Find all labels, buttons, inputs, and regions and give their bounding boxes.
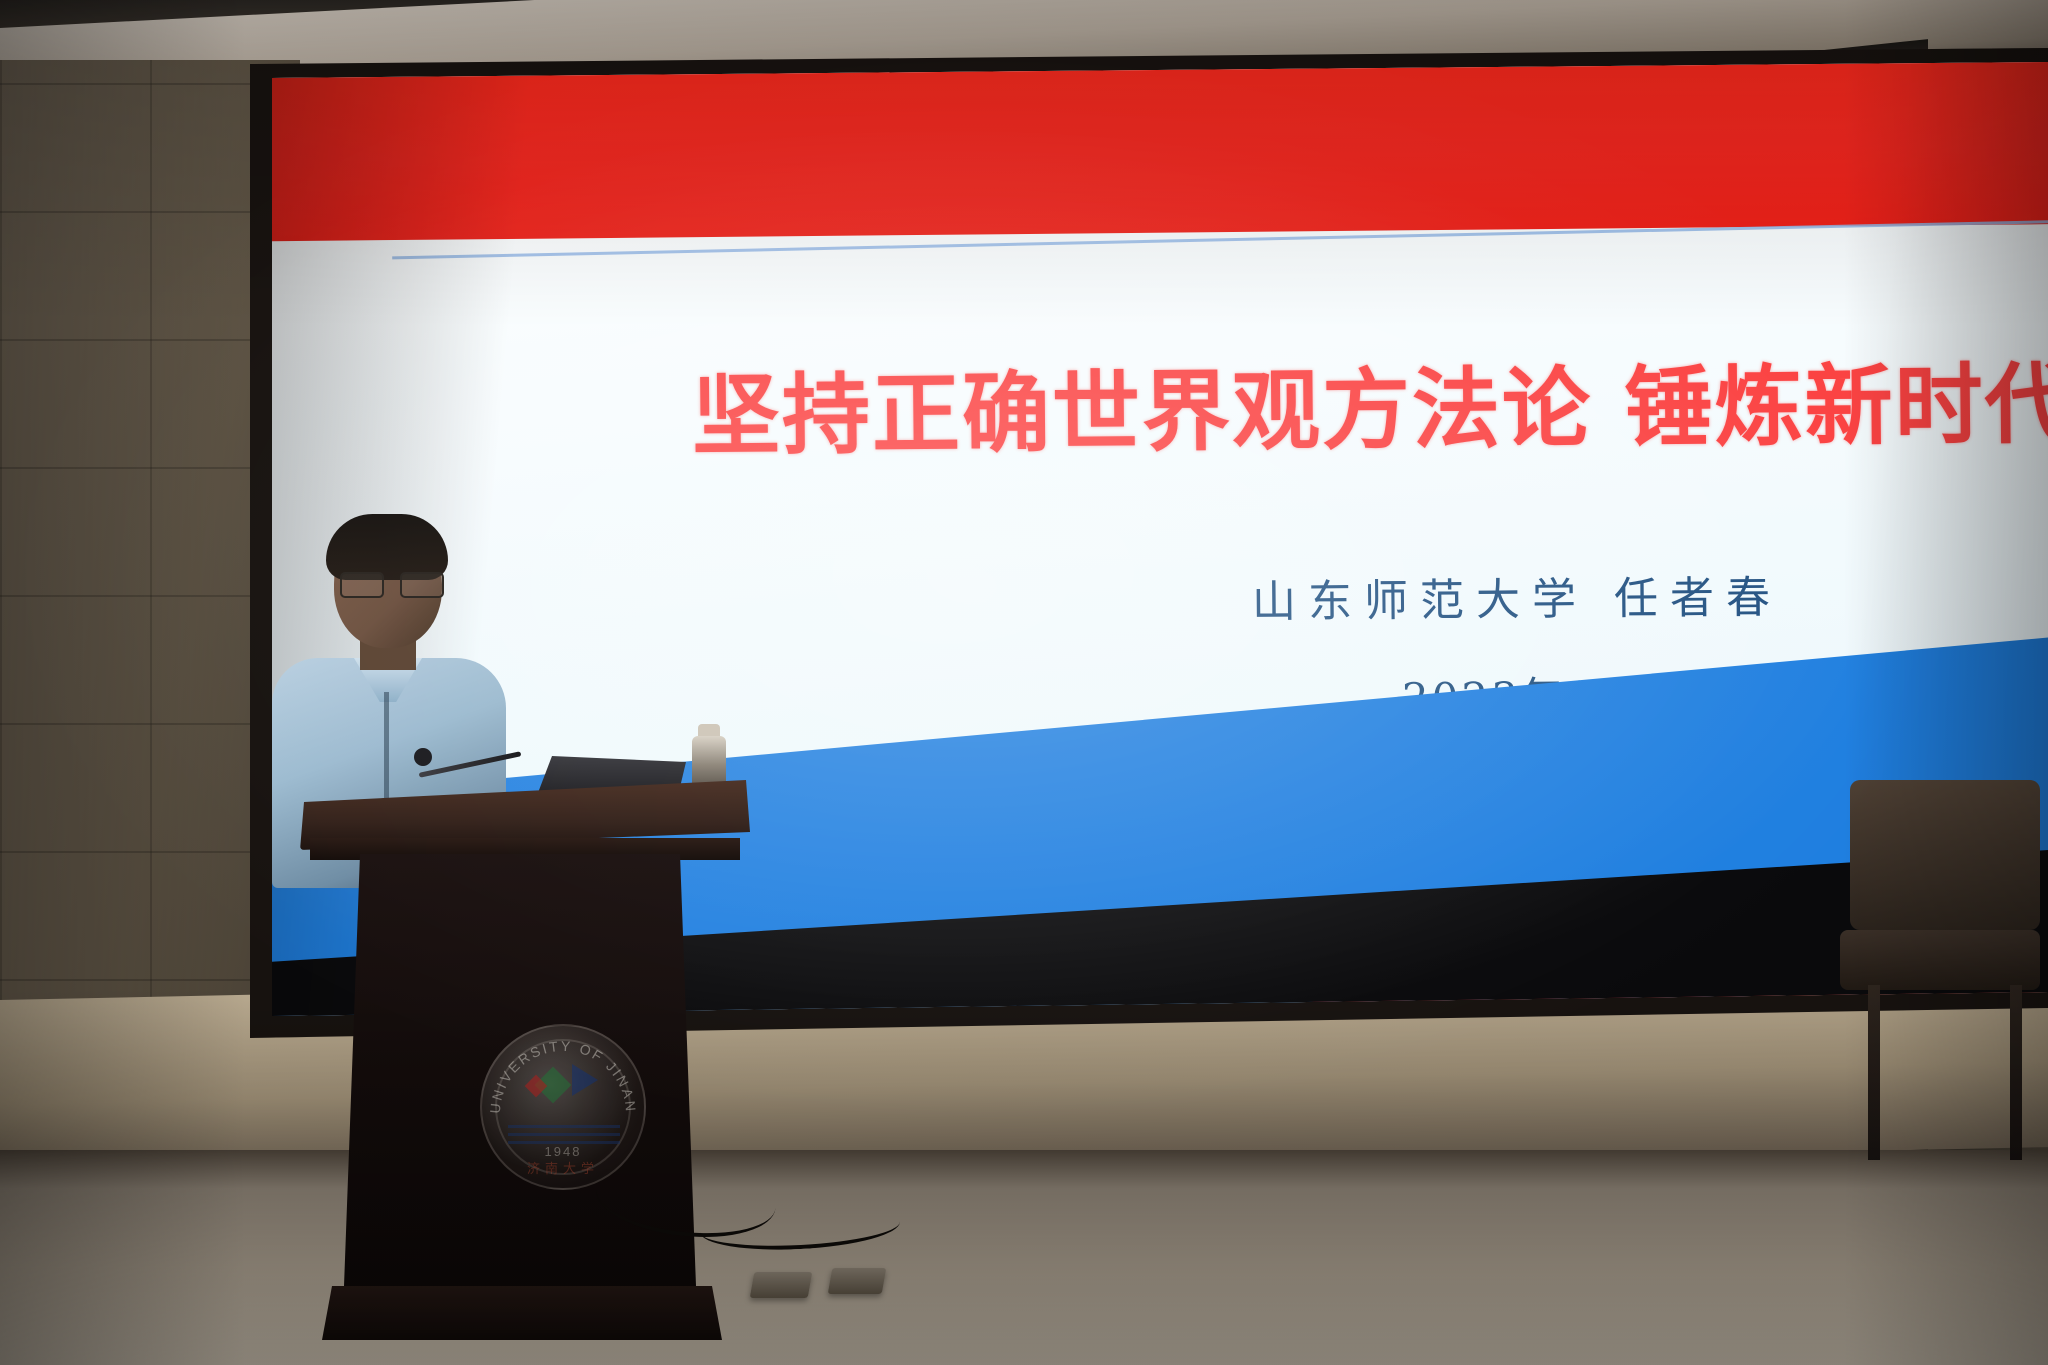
- slide-top-red-band: [272, 62, 2048, 242]
- chair-leg-left: [1868, 985, 1880, 1160]
- podium-base: [322, 1286, 722, 1340]
- microphone-icon: [418, 744, 530, 788]
- chair-backrest: [1850, 780, 2040, 930]
- chair-leg-right: [2010, 985, 2022, 1160]
- microphone-arm: [419, 751, 522, 778]
- slide-title: 坚持正确世界观方法论 锤炼新时代: [692, 355, 2048, 465]
- emblem-core-mark: [524, 1062, 602, 1118]
- floor-socket-plate: [750, 1272, 813, 1298]
- university-emblem: UNIVERSITY OF JINAN 1948 济南大学: [480, 1024, 646, 1190]
- eyeglasses-icon: [340, 572, 444, 594]
- speaker-hair: [326, 514, 448, 580]
- emblem-chevron-icon: [572, 1064, 598, 1096]
- floor-socket-plate: [828, 1268, 887, 1294]
- microphone-head: [414, 748, 432, 766]
- chair-seat: [1840, 930, 2040, 990]
- emblem-wave-lines-icon: [508, 1122, 620, 1144]
- chair: [1840, 780, 2040, 1200]
- lecture-hall-photo: 坚持正确世界观方法论 锤炼新时代 山东师范大学 任者春 2023年09月: [0, 0, 2048, 1365]
- slide-author: 山东师范大学 任者春: [1252, 558, 2048, 630]
- emblem-year: 1948: [482, 1144, 644, 1159]
- podium: UNIVERSITY OF JINAN 1948 济南大学: [300, 780, 750, 1340]
